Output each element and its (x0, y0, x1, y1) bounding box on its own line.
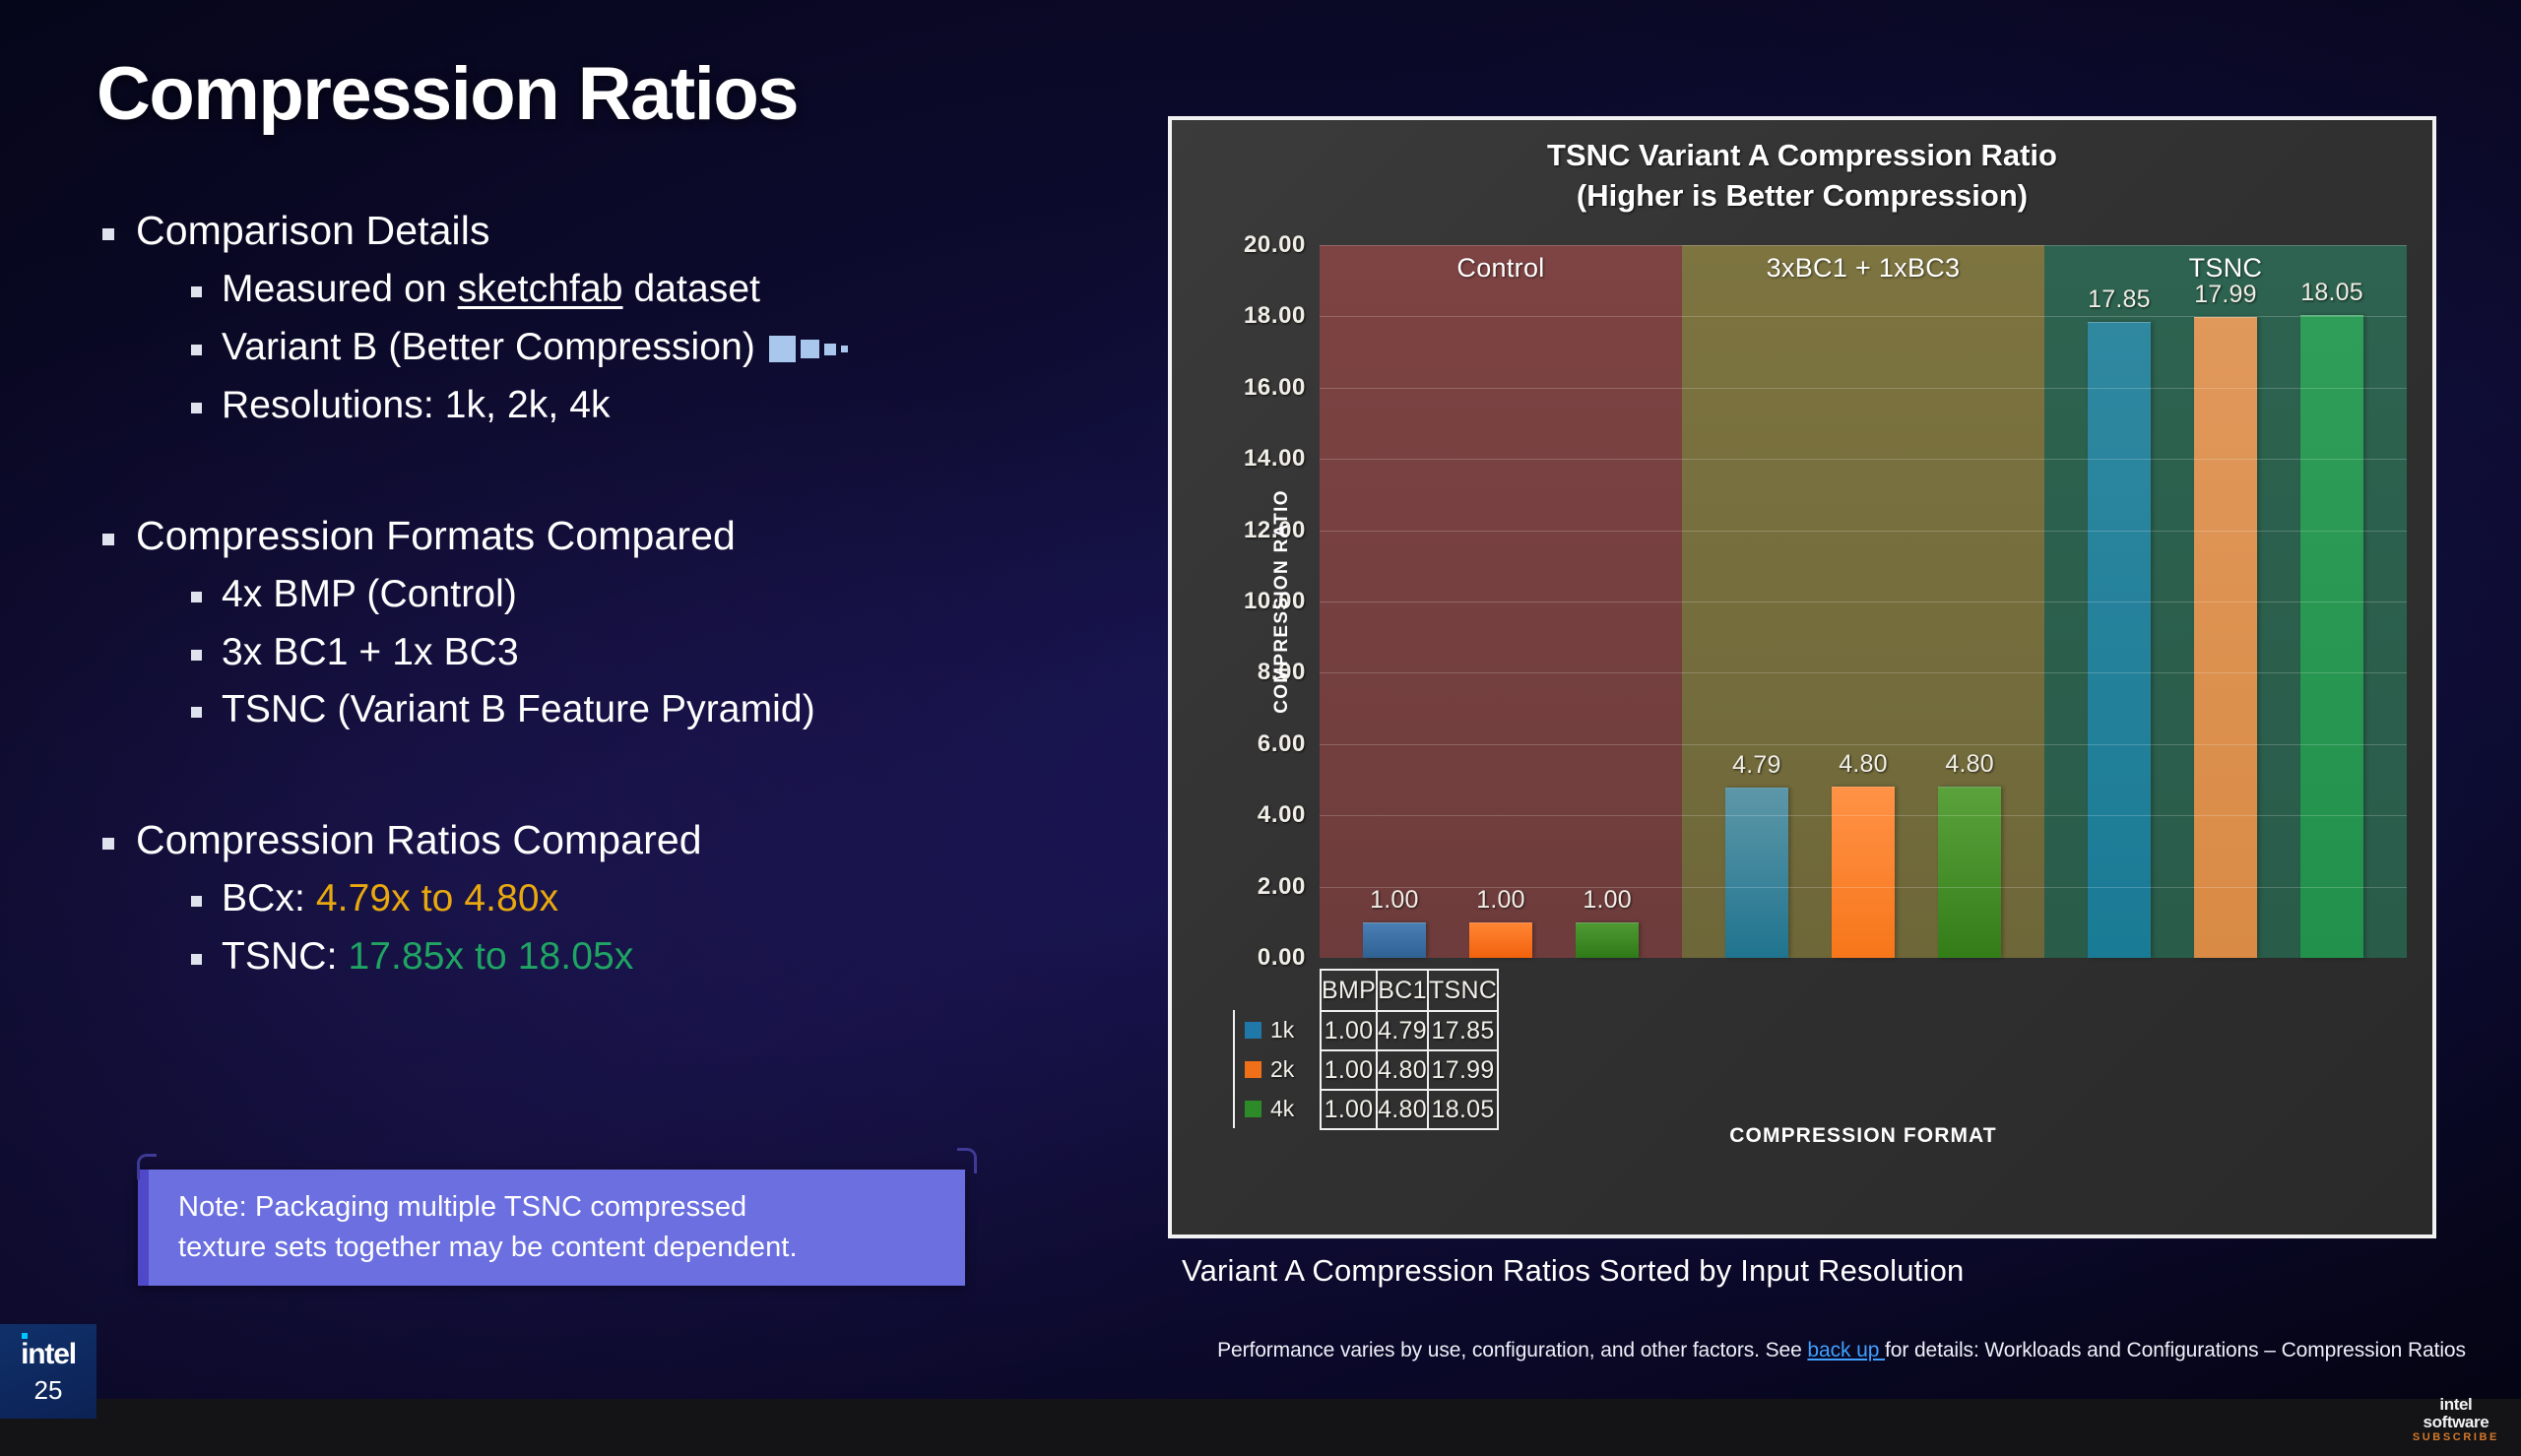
chart-title-line-2: (Higher is Better Compression) (1172, 176, 2432, 217)
bar-rect[interactable] (1725, 788, 1788, 958)
text-prefix: Variant B (Better Compression) (222, 326, 755, 368)
page-title: Compression Ratios (97, 51, 798, 137)
bullet-content: Comparison Details Measured on sketchfab… (98, 207, 1142, 981)
bullet-square-icon (191, 345, 202, 355)
legend-item-4k[interactable]: 4k (1233, 1089, 1320, 1128)
bullet-l2-label: 3x BC1 + 1x BC3 (222, 630, 519, 676)
bar-rect[interactable] (1832, 787, 1895, 958)
table-column-header: BC1 (1377, 970, 1428, 1011)
table-cell: 1.00 (1321, 1050, 1377, 1090)
table-cell: 17.85 (1428, 1011, 1498, 1050)
chart-title: TSNC Variant A Compression Ratio (Higher… (1172, 136, 2432, 217)
bar-4k-bc1[interactable]: 4.80 (1938, 245, 2001, 958)
bullet-l1-formats-compared: Compression Formats Compared (102, 512, 1142, 560)
y-tick-label: 20.00 (1244, 231, 1306, 259)
bullet-square-icon (191, 286, 202, 297)
bullet-square-icon (191, 403, 202, 413)
table-column-header: TSNC (1428, 970, 1498, 1011)
bar-rect[interactable] (1576, 922, 1639, 958)
bar-2k-tsnc[interactable]: 17.99 (2194, 245, 2257, 958)
bar-value-label: 1.00 (1337, 886, 1452, 915)
y-axis-label: COMPRESSION RATIO (1271, 483, 1293, 720)
footnote-before: Performance varies by use, configuration… (1217, 1339, 1807, 1361)
chart-legend: 1k2k4k (1233, 1010, 1320, 1128)
back-up-link[interactable]: back up (1807, 1339, 1885, 1361)
table-cell: 1.00 (1321, 1090, 1377, 1129)
table-column-header: BMP (1321, 970, 1377, 1011)
bullet-square-icon (191, 896, 202, 907)
callout-corner-icon (957, 1148, 977, 1173)
table-row: 1.004.8017.99 (1321, 1050, 1498, 1090)
y-tick-label: 0.00 (1258, 944, 1306, 972)
table-cell: 1.00 (1321, 1011, 1377, 1050)
page-number: 25 (34, 1377, 63, 1403)
tsnc-value: 17.85x to 18.05x (348, 935, 633, 978)
bar-value-label: 18.05 (2275, 279, 2389, 307)
bar-rect[interactable] (2300, 315, 2363, 958)
legend-label: 4k (1270, 1096, 1294, 1122)
note-text: Note: Packaging multiple TSNC compressed… (149, 1187, 823, 1267)
bar-rect[interactable] (1469, 922, 1532, 958)
bar-value-label: 4.80 (1806, 750, 1920, 779)
bullet-square-icon (102, 838, 114, 850)
y-tick-label: 18.00 (1244, 302, 1306, 330)
chart-card: TSNC Variant A Compression Ratio (Higher… (1168, 116, 2436, 1238)
bullet-l1-label: Compression Formats Compared (136, 512, 736, 560)
legend-item-1k[interactable]: 1k (1233, 1010, 1320, 1049)
bullet-l2-label: TSNC: 17.85x to 18.05x (222, 934, 633, 981)
bullet-square-icon (102, 228, 114, 240)
bar-group: 1.001.001.00 (1320, 245, 1682, 958)
badge-line-3: SUBSCRIBE (2413, 1432, 2499, 1444)
bar-rect[interactable] (2088, 322, 2151, 958)
y-tick-label: 14.00 (1244, 445, 1306, 473)
bar-group: 17.8517.9918.05 (2044, 245, 2407, 958)
legend-item-2k[interactable]: 2k (1233, 1049, 1320, 1089)
bottom-bar (0, 1399, 2521, 1456)
text-prefix: Measured on (222, 268, 458, 310)
table-cell: 4.80 (1377, 1050, 1428, 1090)
x-axis-label: COMPRESSION FORMAT (1320, 1124, 2407, 1148)
bar-value-label: 17.99 (2168, 281, 2283, 309)
spacer (98, 429, 1142, 486)
feature-pyramid-icon (769, 336, 848, 362)
callout-corner-icon (137, 1154, 157, 1179)
bullet-l1-label: Comparison Details (136, 207, 490, 255)
bcx-label: BCx: (222, 877, 316, 919)
bar-value-label: 1.00 (1550, 886, 1664, 915)
badge-line-2: software (2413, 1414, 2499, 1431)
bullet-l2-resolutions: Resolutions: 1k, 2k, 4k (191, 383, 1142, 429)
note-callout: Note: Packaging multiple TSNC compressed… (138, 1170, 965, 1286)
bullet-l2-bcx-ratio: BCx: 4.79x to 4.80x (191, 876, 1142, 922)
bar-2k-bc1[interactable]: 4.80 (1832, 245, 1895, 958)
spacer (98, 733, 1142, 791)
bullet-l2-bc1-bc3: 3x BC1 + 1x BC3 (191, 630, 1142, 676)
bullet-square-icon (191, 650, 202, 661)
table-header-row: BMPBC1TSNC (1321, 970, 1498, 1011)
bullet-l2-label: BCx: 4.79x to 4.80x (222, 876, 558, 922)
bar-value-label: 4.79 (1700, 751, 1814, 780)
footnote-after: for details: Workloads and Configuration… (1885, 1339, 2466, 1361)
bullet-l1-comparison-details: Comparison Details (102, 207, 1142, 255)
bar-value-label: 4.80 (1912, 750, 2027, 779)
note-line-1: Note: Packaging multiple TSNC compressed (178, 1187, 798, 1228)
bcx-value: 4.79x to 4.80x (316, 877, 558, 919)
intel-wordmark: intel (21, 1340, 76, 1369)
chart-title-line-1: TSNC Variant A Compression Ratio (1172, 136, 2432, 176)
bullet-l2-label: 4x BMP (Control) (222, 572, 517, 618)
bar-1k-tsnc[interactable]: 17.85 (2088, 245, 2151, 958)
bar-value-label: 17.85 (2062, 285, 2176, 314)
chart-caption: Variant A Compression Ratios Sorted by I… (1182, 1253, 1964, 1289)
bar-1k-bmp[interactable]: 1.00 (1363, 245, 1426, 958)
y-tick-label: 4.00 (1258, 801, 1306, 829)
y-tick-label: 2.00 (1258, 873, 1306, 901)
bullet-l2-bmp: 4x BMP (Control) (191, 572, 1142, 618)
data-table: BMPBC1TSNC1.004.7917.851.004.8017.991.00… (1320, 969, 1499, 1130)
bullet-l2-label: Measured on sketchfab dataset (222, 267, 760, 313)
bullet-l1-ratios-compared: Compression Ratios Compared (102, 816, 1142, 864)
bar-2k-bmp[interactable]: 1.00 (1469, 245, 1532, 958)
table-cell: 4.80 (1377, 1090, 1428, 1129)
bullet-square-icon (191, 707, 202, 718)
y-tick-label: 6.00 (1258, 730, 1306, 758)
bar-value-label: 1.00 (1444, 886, 1558, 915)
tsnc-label: TSNC: (222, 935, 348, 978)
bar-group: 4.794.804.80 (1682, 245, 2044, 958)
footnote: Performance varies by use, configuration… (1192, 1339, 2491, 1362)
bar-4k-tsnc[interactable]: 18.05 (2300, 245, 2363, 958)
bar-4k-bmp[interactable]: 1.00 (1576, 245, 1639, 958)
bar-rect[interactable] (1363, 922, 1426, 958)
legend-swatch-icon (1245, 1101, 1261, 1117)
text-suffix: dataset (623, 268, 761, 310)
slide-canvas: Compression Ratios Comparison Details Me… (0, 0, 2521, 1456)
sketchfab-link[interactable]: sketchfab (458, 268, 623, 310)
legend-swatch-icon (1245, 1022, 1261, 1039)
bar-1k-bc1[interactable]: 4.79 (1725, 245, 1788, 958)
bullet-square-icon (102, 534, 114, 545)
chart-band-tsnc: TSNC17.8517.9918.05 (2044, 245, 2407, 958)
intel-dot-icon (22, 1333, 28, 1339)
chart-band-bc1: 3xBC1 + 1xBC34.794.804.80 (1682, 245, 2044, 958)
bullet-l2-variant-b: Variant B (Better Compression) (191, 325, 1142, 371)
intel-logo: intel 25 (0, 1324, 97, 1419)
intel-software-subscribe-badge[interactable]: intel software SUBSCRIBE (2413, 1396, 2499, 1444)
legend-swatch-icon (1245, 1061, 1261, 1078)
bullet-l2-label: TSNC (Variant B Feature Pyramid) (222, 687, 815, 733)
bullet-l2-label: Variant B (Better Compression) (222, 325, 848, 371)
table-cell: 4.79 (1377, 1011, 1428, 1050)
note-line-2: texture sets together may be content dep… (178, 1228, 798, 1268)
bar-rect[interactable] (1938, 787, 2001, 958)
chart-band-bmp: Control1.001.001.00 (1320, 245, 1682, 958)
bar-rect[interactable] (2194, 317, 2257, 958)
bullet-l2-label: Resolutions: 1k, 2k, 4k (222, 383, 611, 429)
table-cell: 17.99 (1428, 1050, 1498, 1090)
bullet-l1-label: Compression Ratios Compared (136, 816, 702, 864)
plot-area: Control1.001.001.003xBC1 + 1xBC34.794.80… (1320, 245, 2407, 958)
table-cell: 18.05 (1428, 1090, 1498, 1129)
bullet-l2-tsnc-ratio: TSNC: 17.85x to 18.05x (191, 934, 1142, 981)
badge-line-1: intel (2413, 1396, 2499, 1414)
table-row: 1.004.8018.05 (1321, 1090, 1498, 1129)
legend-label: 1k (1270, 1017, 1294, 1044)
bullet-square-icon (191, 954, 202, 965)
bullet-l2-tsnc: TSNC (Variant B Feature Pyramid) (191, 687, 1142, 733)
table-row: 1.004.7917.85 (1321, 1011, 1498, 1050)
y-tick-label: 16.00 (1244, 374, 1306, 402)
bullet-l2-sketchfab: Measured on sketchfab dataset (191, 267, 1142, 313)
y-axis-label-wrap: COMPRESSION RATIO (1196, 245, 1235, 958)
intel-wordmark-text: intel (21, 1338, 76, 1370)
bullet-square-icon (191, 592, 202, 602)
legend-label: 2k (1270, 1056, 1294, 1083)
